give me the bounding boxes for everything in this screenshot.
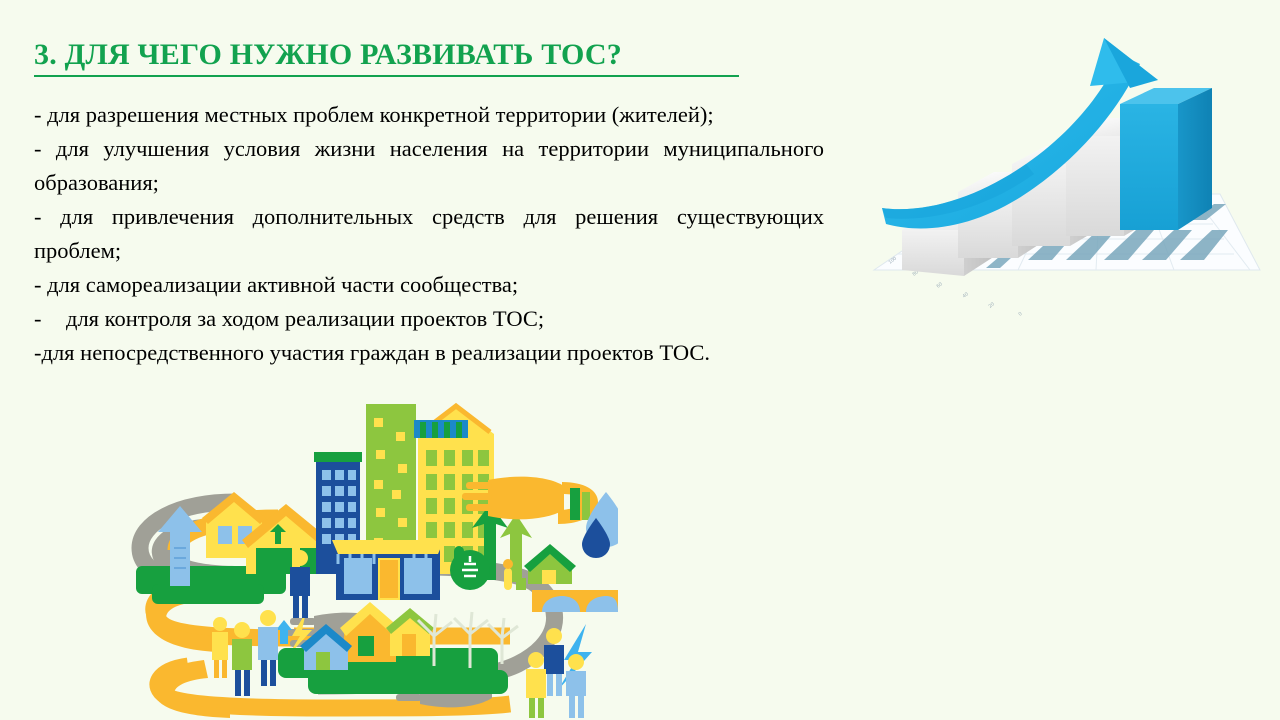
person-figure (544, 628, 564, 696)
svg-text:40: 40 (962, 291, 970, 299)
list-item: -для контроля за ходом реализации проект… (34, 302, 824, 336)
house-group-left (202, 492, 330, 574)
page-title: 3. ДЛЯ ЧЕГО НУЖНО РАЗВИВАТЬ ТОС? (34, 38, 739, 72)
list-item: - для разрешения местных проблем конкрет… (34, 98, 824, 132)
green-chimney-icon (570, 488, 590, 520)
list-item-marker: - (34, 340, 42, 365)
person-figure (232, 622, 252, 696)
title-underline-rule (34, 75, 739, 77)
person-figure (258, 610, 278, 686)
list-item-marker: - (34, 302, 66, 336)
person-figure (566, 654, 586, 718)
slide-root: 3. ДЛЯ ЧЕГО НУЖНО РАЗВИВАТЬ ТОС? - для р… (0, 0, 1280, 720)
svg-text:0: 0 (1018, 311, 1024, 318)
storefront-shop (332, 540, 444, 600)
list-item: - для привлечения дополнительных средств… (34, 200, 824, 268)
bar-chart-image: 100 80 60 40 20 0 (868, 8, 1272, 318)
person-figure (212, 617, 228, 678)
list-item: - для самореализации активной части сооб… (34, 268, 824, 302)
chart-bar-5-highlight (1120, 88, 1212, 230)
title-block: 3. ДЛЯ ЧЕГО НУЖНО РАЗВИВАТЬ ТОС? (34, 38, 739, 77)
bullet-list: - для разрешения местных проблем конкрет… (34, 98, 824, 370)
list-item: - для улучшения условия жизни населения … (34, 132, 824, 200)
person-figure (526, 652, 546, 718)
list-item: -для непосредственного участия граждан в… (34, 336, 824, 370)
list-item-label: для непосредственного участия граждан в … (42, 340, 711, 365)
list-item-label: для контроля за ходом реализации проекто… (66, 306, 544, 331)
person-figure (290, 550, 310, 618)
svg-text:60: 60 (936, 281, 944, 289)
city-illustration-image (118, 398, 618, 718)
svg-text:20: 20 (988, 301, 996, 309)
